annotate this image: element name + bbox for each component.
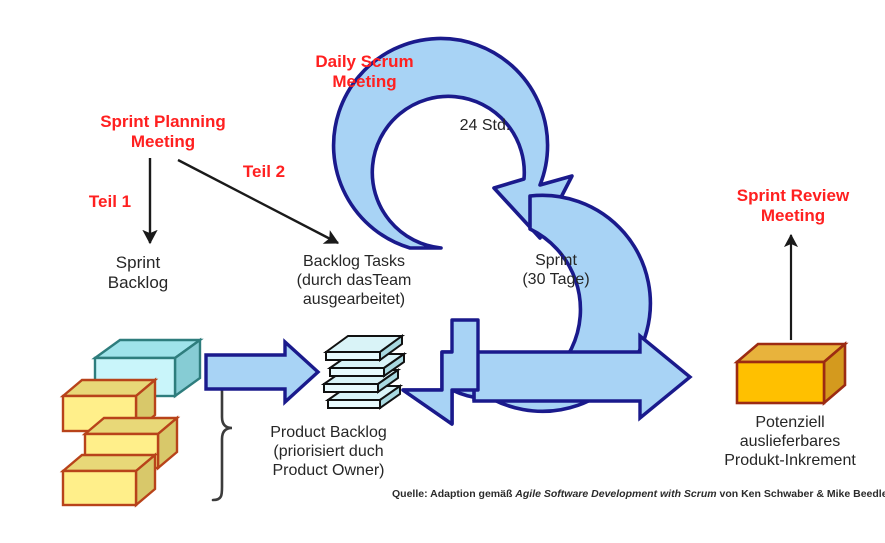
source-note-prefix: Quelle: Adaption gemäß — [392, 488, 515, 500]
label-sprint-backlog: Sprint Backlog — [93, 253, 183, 293]
product-backlog-box-bottom — [63, 455, 155, 505]
label-product-increment: Potenziell auslieferbares Produkt-Inkrem… — [700, 414, 880, 471]
label-cycle-sprint: Sprint (30 Tage) — [495, 252, 617, 290]
source-note: Quelle: Adaption gemäß Agile Software De… — [392, 488, 885, 500]
product-backlog-brace — [213, 377, 232, 500]
sprint-cycle-return-arrowhead — [403, 320, 478, 424]
label-product-backlog: Product Backlog (priorisiert duch Produc… — [236, 424, 421, 481]
label-teil-1: Teil 1 — [79, 192, 141, 212]
source-note-title: Agile Software Development with Scrum — [515, 488, 716, 500]
scrum-diagram-canvas: Daily Scrum Meeting Sprint Planning Meet… — [0, 0, 885, 543]
label-sprint-planning-meeting: Sprint Planning Meeting — [79, 112, 247, 152]
backlog-tasks-stack — [324, 336, 404, 408]
product-increment-box — [737, 344, 845, 403]
label-sprint-review-meeting: Sprint Review Meeting — [714, 186, 872, 226]
label-daily-scrum-meeting: Daily Scrum Meeting — [287, 52, 442, 92]
source-note-suffix: von Ken Schwaber & Mike Beedle — [717, 488, 885, 500]
label-cycle-24-std: 24 Std. — [440, 117, 530, 136]
label-backlog-tasks: Backlog Tasks (durch dasTeam ausgearbeit… — [268, 253, 440, 310]
label-teil-2: Teil 2 — [233, 162, 295, 182]
